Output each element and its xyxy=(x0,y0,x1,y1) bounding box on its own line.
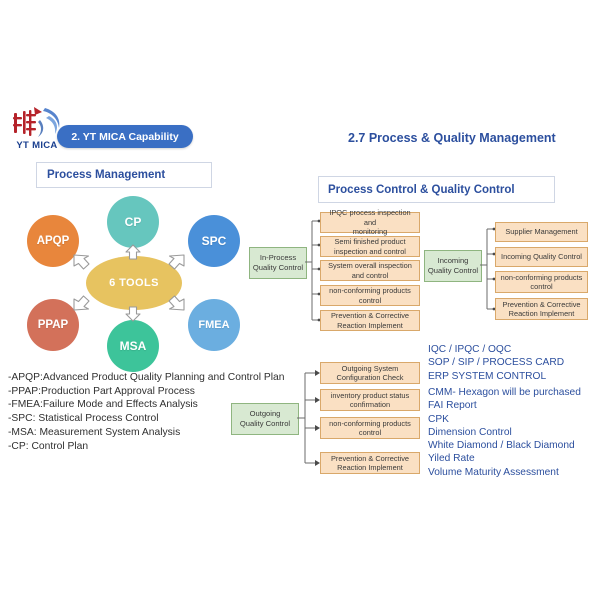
item-line2: control xyxy=(530,282,552,291)
legend-item: -APQP:Advanced Product Quality Planning … xyxy=(8,371,308,385)
arrow-to-apqp-icon xyxy=(72,253,92,271)
arrow-to-msa-icon xyxy=(124,306,142,322)
arrow-to-ppap-icon xyxy=(72,294,92,312)
incoming-item[interactable]: Supplier Management xyxy=(495,222,588,242)
note-item: Volume Maturity Assessment xyxy=(428,466,581,479)
item-line1: Incoming Quality Control xyxy=(501,252,582,261)
in-process-label-line1: In-Process xyxy=(260,253,296,263)
item-line1: non-conforming products xyxy=(329,419,411,428)
process-management-label: Process Management xyxy=(47,169,165,181)
item-line2: inspection and control xyxy=(334,247,406,256)
in-process-item[interactable]: IPQC process inspection and monitoring xyxy=(320,212,420,233)
item-line2: and control xyxy=(352,271,389,280)
in-process-item[interactable]: Prevention & Corrective Reaction Impleme… xyxy=(320,310,420,331)
note-item: CMM- Hexagon will be purchased xyxy=(428,386,581,399)
legend-item: -CP: Control Plan xyxy=(8,440,308,454)
arrow-to-cp-icon xyxy=(124,244,142,260)
item-line2: Reaction Implement xyxy=(337,463,403,472)
process-management-header: Process Management xyxy=(36,162,212,188)
item-line1: Outgoing System xyxy=(342,364,399,373)
process-control-quality-control-header: Process Control & Quality Control xyxy=(318,176,555,203)
six-tools-center-label: 6 TOOLS xyxy=(109,277,159,289)
item-line1: IPQC process inspection and xyxy=(324,208,416,227)
outgoing-connectors xyxy=(297,362,321,474)
in-process-label-line2: Quality Control xyxy=(253,263,303,273)
notes-bottom-list: CMM- Hexagon will be purchased FAI Repor… xyxy=(428,386,581,479)
capability-pill-badge[interactable]: 2. YT MICA Capability xyxy=(57,125,193,148)
note-item: Yiled Rate xyxy=(428,452,581,465)
tool-circle-fmea[interactable]: FMEA xyxy=(188,299,240,351)
item-line1: Supplier Management xyxy=(505,227,577,236)
tool-circle-cp[interactable]: CP xyxy=(107,196,159,248)
item-line2: Reaction Implement xyxy=(337,321,403,330)
incoming-label-line1: Incoming xyxy=(438,256,469,266)
page-title: 2.7 Process & Quality Management xyxy=(348,131,556,145)
tool-circle-apqp-label: APQP xyxy=(37,235,70,247)
tool-circle-spc[interactable]: SPC xyxy=(188,215,240,267)
outgoing-label-line1: Outgoing xyxy=(250,409,281,419)
outgoing-quality-control-label[interactable]: Outgoing Quality Control xyxy=(231,403,299,435)
note-item: FAI Report xyxy=(428,399,581,412)
note-item: ERP SYSTEM CONTROL xyxy=(428,370,564,383)
incoming-item[interactable]: Incoming Quality Control xyxy=(495,247,588,267)
logo-caption: YT MICA xyxy=(9,140,65,151)
outgoing-item[interactable]: Prevention & Corrective Reaction Impleme… xyxy=(320,452,420,474)
item-line1: non-conforming products xyxy=(501,273,583,282)
note-item: SOP / SIP / PROCESS CARD xyxy=(428,356,564,369)
outgoing-item[interactable]: inventory product status confirmation xyxy=(320,389,420,411)
outgoing-item[interactable]: non-conforming products control xyxy=(320,417,420,439)
item-line2: Configuration Check xyxy=(337,373,404,382)
process-control-quality-control-label: Process Control & Quality Control xyxy=(328,184,515,196)
item-line1: Prevention & Corrective xyxy=(331,454,409,463)
in-process-item[interactable]: non-conforming products control xyxy=(320,285,420,306)
capability-pill-label: 2. YT MICA Capability xyxy=(71,131,178,143)
incoming-item[interactable]: non-conforming products control xyxy=(495,271,588,293)
note-item: White Diamond / Black Diamond xyxy=(428,439,581,452)
item-line1: System overall inspection xyxy=(328,261,412,270)
slide-canvas: YT MICA 2. YT MICA Capability 2.7 Proces… xyxy=(0,0,600,600)
tool-circle-spc-label: SPC xyxy=(202,234,227,248)
item-line2: control xyxy=(359,296,381,305)
tool-circle-msa[interactable]: MSA xyxy=(107,320,159,372)
tool-circle-ppap-label: PPAP xyxy=(38,319,68,331)
in-process-item[interactable]: Semi finished product inspection and con… xyxy=(320,236,420,257)
note-item: Dimension Control xyxy=(428,426,581,439)
six-tools-wheel: 6 TOOLS CP SPC FMEA MSA PPAP APQP xyxy=(18,196,248,372)
item-line2: Reaction Implement xyxy=(509,309,575,318)
note-item: CPK xyxy=(428,413,581,426)
item-line1: Prevention & Corrective xyxy=(331,311,409,320)
legend-item: -PPAP:Production Part Approval Process xyxy=(8,385,308,399)
in-process-item[interactable]: System overall inspection and control xyxy=(320,260,420,281)
note-item: IQC / IPQC / OQC xyxy=(428,343,564,356)
item-line1: Prevention & Corrective xyxy=(502,300,580,309)
arrow-to-spc-icon xyxy=(166,253,186,271)
item-line1: non-conforming products xyxy=(329,286,411,295)
tool-circle-cp-label: CP xyxy=(125,215,142,229)
incoming-item[interactable]: Prevention & Corrective Reaction Impleme… xyxy=(495,298,588,320)
tool-circle-msa-label: MSA xyxy=(120,339,147,353)
item-line1: inventory product status xyxy=(331,391,409,400)
in-process-quality-control-label[interactable]: In-Process Quality Control xyxy=(249,247,307,279)
tool-circle-fmea-label: FMEA xyxy=(198,319,229,331)
item-line1: Semi finished product xyxy=(334,237,405,246)
item-line2: confirmation xyxy=(350,400,390,409)
notes-top-list: IQC / IPQC / OQC SOP / SIP / PROCESS CAR… xyxy=(428,343,564,383)
arrow-to-fmea-icon xyxy=(166,294,186,312)
incoming-label-line2: Quality Control xyxy=(428,266,478,276)
item-line2: control xyxy=(359,428,381,437)
outgoing-item[interactable]: Outgoing System Configuration Check xyxy=(320,362,420,384)
outgoing-label-line2: Quality Control xyxy=(240,419,290,429)
incoming-quality-control-label[interactable]: Incoming Quality Control xyxy=(424,250,482,282)
